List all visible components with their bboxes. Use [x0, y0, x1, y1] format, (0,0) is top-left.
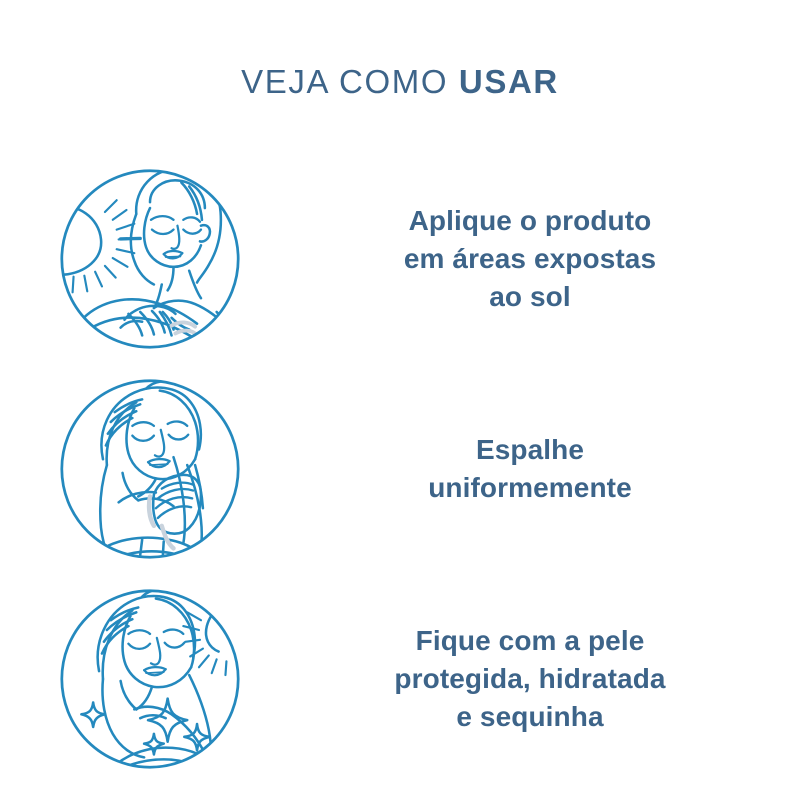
step-1-line-3: ao sol: [300, 278, 760, 316]
step-3-illustration: [0, 574, 300, 784]
sparkle-left-upper-icon: [81, 703, 105, 728]
step-1-line-2: em áreas expostas: [300, 240, 760, 278]
step-2-line-2: uniformemente: [300, 469, 760, 507]
step-3-text: Fique com a pele protegida, hidratada e …: [300, 622, 800, 736]
page-title: VEJA COMO USAR: [0, 62, 800, 102]
step-2-text: Espalhe uniformemente: [300, 431, 800, 507]
step-1-illustration: [0, 154, 300, 364]
step-item: Espalhe uniformemente: [0, 364, 800, 574]
sparkle-small-icon: [144, 734, 164, 755]
step-item: Aplique o produto em áreas expostas ao s…: [0, 154, 800, 364]
woman-applying-sunscreen-with-sun-icon: [52, 161, 248, 357]
step-3-line-2: protegida, hidratada: [300, 660, 760, 698]
page-title-light: VEJA COMO: [241, 63, 448, 100]
step-2-line-1: Espalhe: [300, 431, 760, 469]
step-item: Fique com a pele protegida, hidratada e …: [0, 574, 800, 784]
woman-with-sparkles-and-sun-icon: [52, 581, 248, 777]
step-1-line-1: Aplique o produto: [300, 202, 760, 240]
illustration-circle-border: [62, 381, 238, 557]
page-title-strong: USAR: [459, 63, 559, 100]
step-1-text: Aplique o produto em áreas expostas ao s…: [300, 202, 800, 316]
instructions-panel: VEJA COMO USAR: [0, 0, 800, 800]
woman-spreading-cream-on-neck-icon: [52, 371, 248, 567]
step-2-illustration: [0, 364, 300, 574]
step-3-line-1: Fique com a pele: [300, 622, 760, 660]
step-3-line-3: e sequinha: [300, 698, 760, 736]
sun-body: [206, 599, 244, 652]
steps-list: Aplique o produto em áreas expostas ao s…: [0, 140, 800, 790]
